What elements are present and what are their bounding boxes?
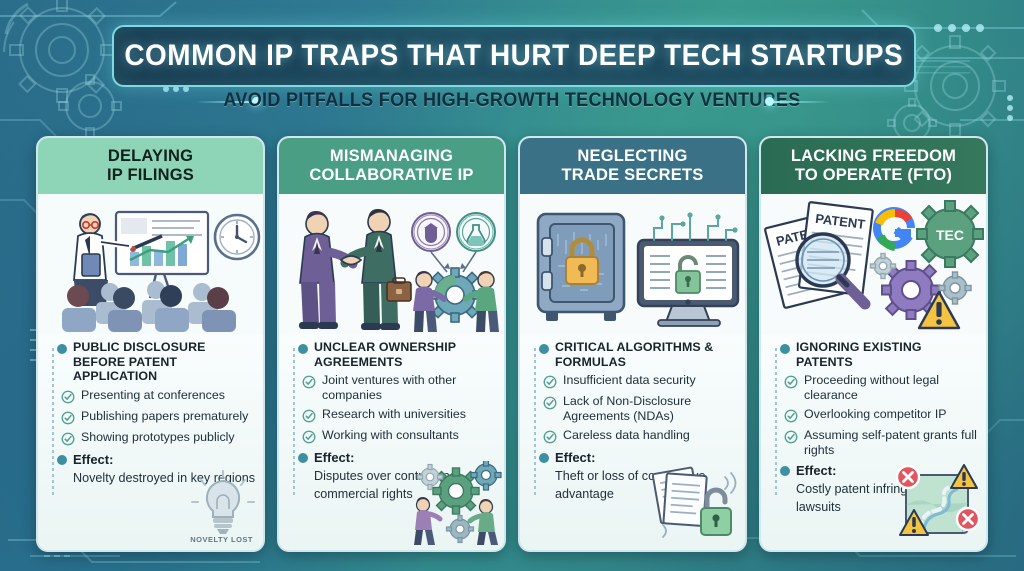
effect-label: Effect:	[314, 450, 354, 465]
list-item: Careless data handling	[529, 428, 737, 444]
card-heading-row: IGNORING EXISTING PATENTS	[770, 340, 978, 369]
check-circle-icon	[61, 390, 75, 404]
list-item-label: Showing prototypes publicly	[81, 430, 235, 446]
list-item-label: Assuming self-patent grants full rights	[804, 428, 978, 457]
card-title-line-2: TRADE SECRETS	[562, 166, 704, 185]
check-circle-icon	[784, 409, 798, 423]
trap-card-lacking-freedom-to-operate[interactable]: LACKING FREEDOM TO OPERATE (FTO) PATENT	[759, 136, 988, 552]
list-item-label: Joint ventures with other companies	[322, 373, 496, 402]
list-item-label: Overlooking competitor IP	[804, 407, 947, 423]
card-body: UNCLEAR OWNERSHIP AGREEMENTS Joint ventu…	[279, 334, 504, 550]
effect-text: Novelty destroyed in key regions	[73, 471, 255, 485]
list-item-label: Insufficient data security	[563, 373, 696, 389]
footer-caption: NOVELTY LOST	[190, 535, 253, 544]
check-circle-icon	[784, 375, 798, 389]
patent-docs-magnifier-gears-warning-illustration: PATENT PATENT	[761, 194, 986, 334]
card-effect-row: Effect: Theft or loss of competitive adv…	[529, 449, 737, 503]
card-title-line-2: IP FILINGS	[107, 166, 194, 185]
check-circle-icon	[61, 411, 75, 425]
list-item-label: Publishing papers prematurely	[81, 409, 248, 425]
bullet-icon	[298, 344, 308, 354]
list-item-label: Working with consultants	[322, 428, 459, 444]
list-item-label: Lack of Non-Disclosure Agreements (NDAs)	[563, 394, 737, 423]
effect-label: Effect:	[796, 463, 836, 478]
card-effect-row: Effect: Costly patent infringement lawsu…	[770, 462, 978, 516]
card-title-line-1: MISMANAGING	[309, 147, 473, 166]
card-title-line-2: COLLABORATIVE IP	[309, 166, 473, 185]
card-heading-row: UNCLEAR OWNERSHIP AGREEMENTS	[288, 340, 496, 369]
card-heading: UNCLEAR OWNERSHIP AGREEMENTS	[314, 340, 496, 369]
card-effect-row: Effect: Disputes over control and commer…	[288, 449, 496, 503]
bullet-icon	[298, 453, 308, 463]
card-title-line-2: TO OPERATE (FTO)	[791, 166, 956, 185]
list-item: Working with consultants	[288, 428, 496, 444]
bullet-icon	[57, 344, 67, 354]
card-body: PUBLIC DISCLOSURE BEFORE PATENT APPLICAT…	[38, 334, 263, 550]
effect-text: Costly patent infringement lawsuits	[796, 482, 942, 514]
subtitle-rule-right	[770, 101, 830, 103]
subtitle-dot-right	[765, 97, 774, 106]
page-subtitle: AVOID PITFALLS FOR HIGH-GROWTH TECHNOLOG…	[26, 90, 999, 112]
card-item-list: Presenting at conferences Publishing pap…	[47, 388, 255, 446]
effect-text: Theft or loss of competitive advantage	[555, 469, 706, 501]
bullet-icon	[780, 344, 790, 354]
list-item: Presenting at conferences	[47, 388, 255, 404]
bullet-icon	[539, 344, 549, 354]
trap-cards-row: DELAYING IP FILINGS	[36, 136, 988, 548]
card-header: NEGLECTING TRADE SECRETS	[520, 138, 745, 194]
card-heading: PUBLIC DISCLOSURE BEFORE PATENT APPLICAT…	[73, 340, 255, 384]
trap-card-neglecting-trade-secrets[interactable]: NEGLECTING TRADE SECRETS	[518, 136, 747, 552]
list-item: Publishing papers prematurely	[47, 409, 255, 425]
check-circle-icon	[543, 375, 557, 389]
bullet-icon	[539, 453, 549, 463]
effect-label: Effect:	[555, 450, 595, 465]
card-header: MISMANAGING COLLABORATIVE IP	[279, 138, 504, 194]
card-item-list: Insufficient data security Lack of Non-D…	[529, 373, 737, 444]
safe-vault-monitor-locks-illustration	[520, 194, 745, 334]
page-title: COMMON IP TRAPS THAT HURT DEEP TECH STAR…	[125, 39, 904, 73]
card-item-list: Joint ventures with other companies Rese…	[288, 373, 496, 444]
list-item-label: Presenting at conferences	[81, 388, 225, 404]
trap-card-delaying-ip-filings[interactable]: DELAYING IP FILINGS	[36, 136, 265, 552]
card-body: CRITICAL ALGORITHMS & FORMULAS Insuffici…	[520, 334, 745, 550]
card-title-line-1: LACKING FREEDOM	[791, 147, 956, 166]
card-header: DELAYING IP FILINGS	[38, 138, 263, 194]
card-header: LACKING FREEDOM TO OPERATE (FTO)	[761, 138, 986, 194]
card-effect-row: Effect: Novelty destroyed in key regions	[47, 451, 255, 487]
check-circle-icon	[61, 432, 75, 446]
trap-card-mismanaging-collaborative-ip[interactable]: MISMANAGING COLLABORATIVE IP	[277, 136, 506, 552]
page-title-bar: COMMON IP TRAPS THAT HURT DEEP TECH STAR…	[112, 25, 916, 87]
check-circle-icon	[302, 430, 316, 444]
list-item: Research with universities	[288, 407, 496, 423]
lecture-presentation-clock-illustration	[38, 194, 263, 334]
bullet-icon	[57, 455, 67, 465]
list-item: Insufficient data security	[529, 373, 737, 389]
card-heading-row: PUBLIC DISCLOSURE BEFORE PATENT APPLICAT…	[47, 340, 255, 384]
card-item-list: Proceeding without legal clearance Overl…	[770, 373, 978, 457]
check-circle-icon	[302, 409, 316, 423]
list-item-label: Proceeding without legal clearance	[804, 373, 978, 402]
list-item: Lack of Non-Disclosure Agreements (NDAs)	[529, 394, 737, 423]
check-circle-icon	[543, 396, 557, 410]
list-item: Proceeding without legal clearance	[770, 373, 978, 402]
list-item: Showing prototypes publicly	[47, 430, 255, 446]
card-heading: CRITICAL ALGORITHMS & FORMULAS	[555, 340, 737, 369]
bullet-icon	[780, 466, 790, 476]
card-title-line-1: NEGLECTING	[562, 147, 704, 166]
effect-label: Effect:	[73, 452, 113, 467]
list-item-label: Careless data handling	[563, 428, 690, 444]
card-title-line-1: DELAYING	[107, 147, 194, 166]
list-item: Overlooking competitor IP	[770, 407, 978, 423]
list-item: Joint ventures with other companies	[288, 373, 496, 402]
card-heading: IGNORING EXISTING PATENTS	[796, 340, 978, 369]
list-item: Assuming self-patent grants full rights	[770, 428, 978, 457]
check-circle-icon	[543, 430, 557, 444]
check-circle-icon	[784, 430, 798, 444]
card-heading-row: CRITICAL ALGORITHMS & FORMULAS	[529, 340, 737, 369]
effect-text: Disputes over control and commercial rig…	[314, 469, 457, 501]
svg-text:TEC: TEC	[936, 227, 964, 243]
list-item-label: Research with universities	[322, 407, 466, 423]
infographic-canvas: COMMON IP TRAPS THAT HURT DEEP TECH STAR…	[0, 0, 1024, 571]
card-body: IGNORING EXISTING PATENTS Proceeding wit…	[761, 334, 986, 550]
check-circle-icon	[302, 375, 316, 389]
handshake-partners-gear-badges-illustration	[279, 194, 504, 334]
